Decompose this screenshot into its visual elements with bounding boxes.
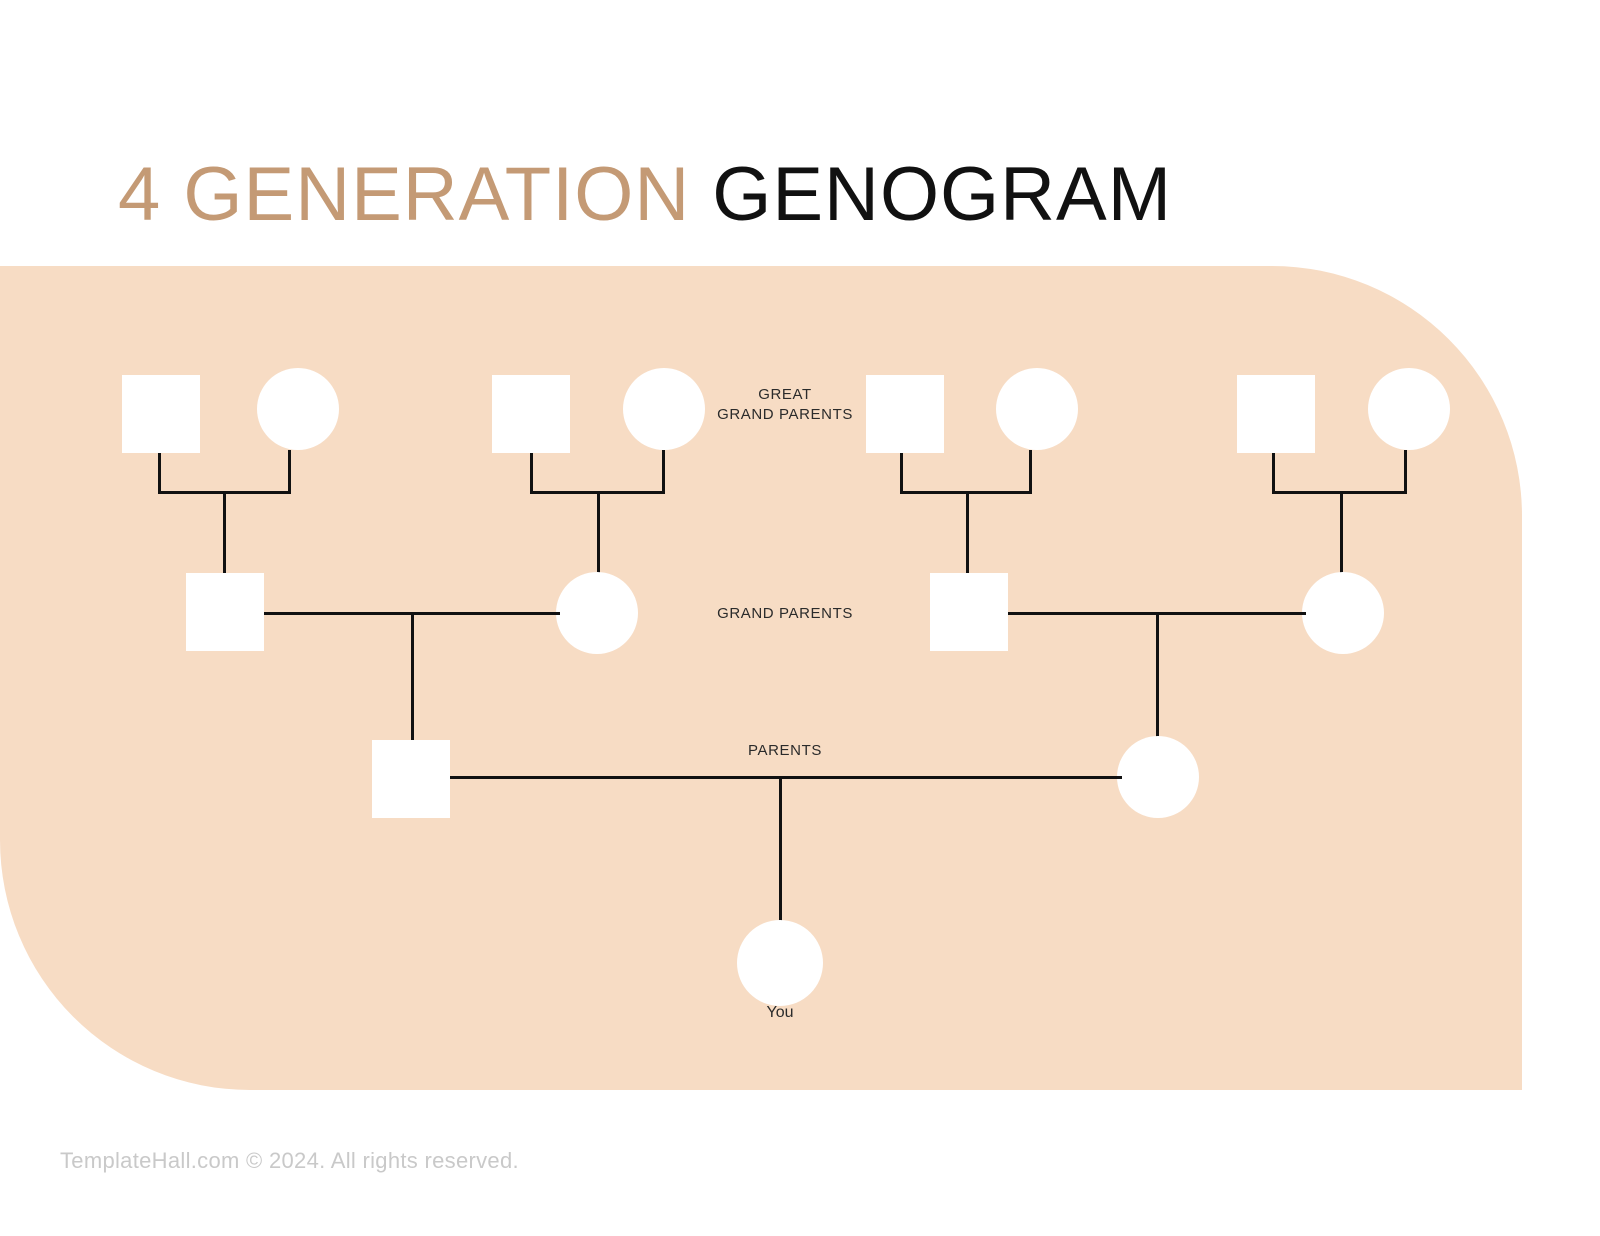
node-mother[interactable] (1117, 736, 1199, 818)
page-title-accent: 4 GENERATION (118, 157, 690, 233)
node-great-grandmother-4[interactable] (1368, 368, 1450, 450)
label-parents: PARENTS (685, 741, 885, 761)
page-title: 4 GENERATION GENOGRAM (118, 150, 1518, 240)
node-grandfather-maternal[interactable] (930, 573, 1008, 651)
node-great-grandfather-1[interactable] (122, 375, 200, 453)
node-great-grandmother-3[interactable] (996, 368, 1078, 450)
node-great-grandfather-4[interactable] (1237, 375, 1315, 453)
node-father[interactable] (372, 740, 450, 818)
node-grandfather-paternal[interactable] (186, 573, 264, 651)
label-you: You (700, 1004, 860, 1022)
page-title-main: GENOGRAM (712, 157, 1172, 233)
node-great-grandfather-2[interactable] (492, 375, 570, 453)
footer-copyright: TemplateHall.com © 2024. All rights rese… (60, 1148, 519, 1174)
node-grandmother-maternal[interactable] (1302, 572, 1384, 654)
node-grandmother-paternal[interactable] (556, 572, 638, 654)
label-great-grand-parents: GREAT GRAND PARENTS (685, 385, 885, 426)
node-great-grandmother-1[interactable] (257, 368, 339, 450)
label-grand-parents: GRAND PARENTS (685, 604, 885, 624)
node-you[interactable] (737, 920, 823, 1006)
